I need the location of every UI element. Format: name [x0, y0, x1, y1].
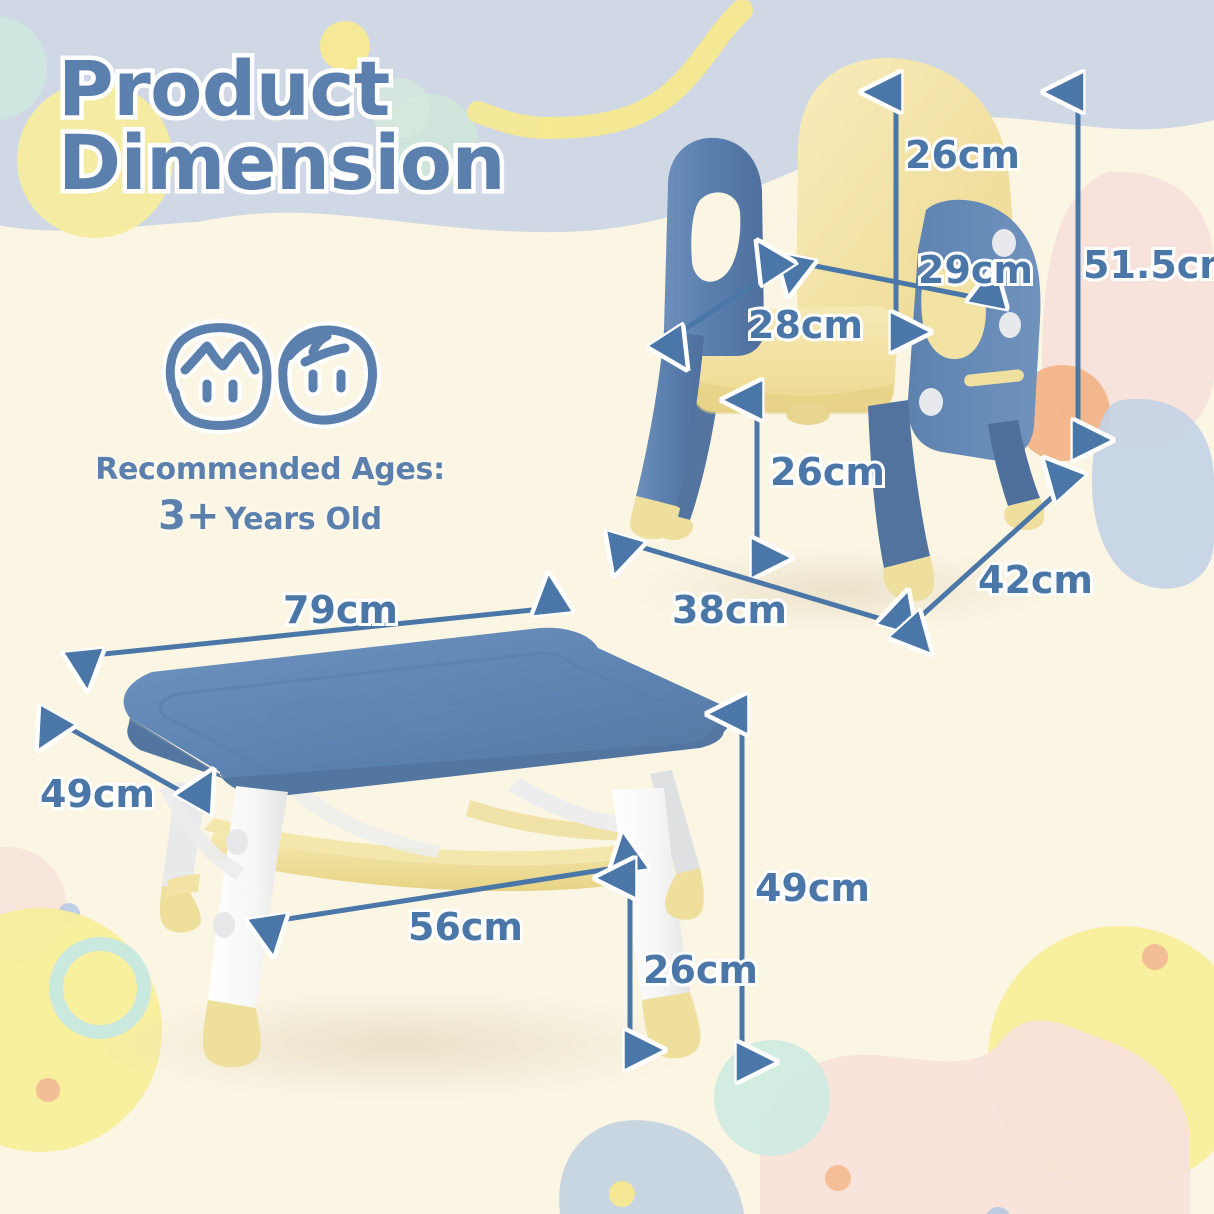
arrow-table-crossbar-len	[268, 866, 628, 922]
arrow-table-top-width	[84, 608, 552, 656]
arrow-table-top-depth	[55, 720, 196, 800]
table-dimension-arrows	[0, 0, 1214, 1214]
infographic-canvas: Product Dimension	[0, 0, 1214, 1214]
